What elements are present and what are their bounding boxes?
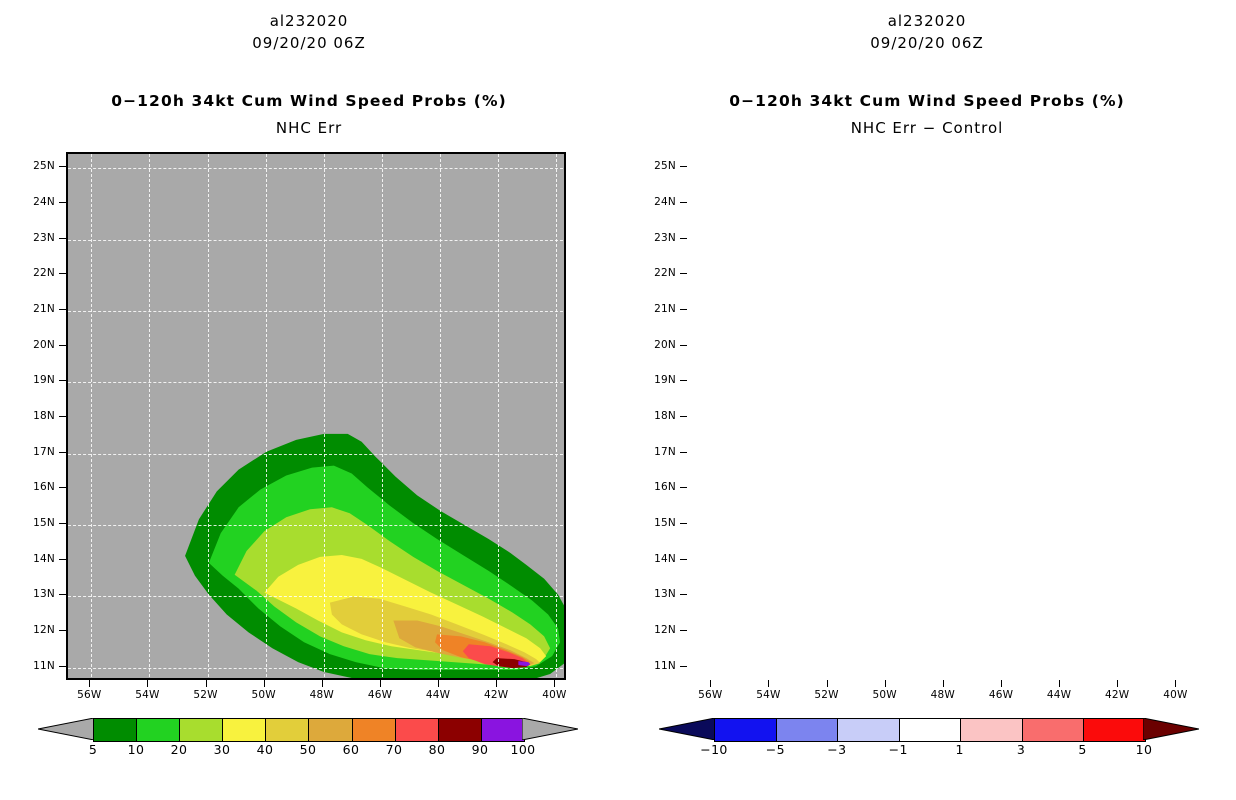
y-axis-label: 11N: [21, 660, 55, 672]
y-axis-label: 23N: [642, 232, 676, 244]
y-axis-tick: [59, 523, 66, 524]
colorbar-left-high-cap: [522, 718, 578, 740]
y-axis-tick: [680, 380, 687, 381]
y-axis-label: 20N: [21, 339, 55, 351]
x-axis-tick: [710, 680, 711, 687]
colorbar-probability-swatch[interactable]: [223, 719, 266, 741]
x-axis-tick: [322, 680, 323, 687]
y-axis-label: 17N: [21, 446, 55, 458]
x-axis-tick: [768, 680, 769, 687]
y-axis-label: 16N: [642, 481, 676, 493]
y-axis-tick: [59, 630, 66, 631]
y-axis-label: 22N: [21, 267, 55, 279]
right-chart-title: 0−120h 34kt Cum Wind Speed Probs (%): [618, 92, 1236, 110]
colorbar-difference-swatch[interactable]: [715, 719, 777, 741]
colorbar-probability-tick-label: 80: [417, 742, 457, 757]
x-axis-tick: [1117, 680, 1118, 687]
gridline-vertical: [91, 154, 92, 678]
y-axis-label: 19N: [21, 374, 55, 386]
colorbar-left-low-cap: [38, 718, 94, 740]
colorbar-difference-tick-label: 3: [1001, 742, 1041, 757]
gridline-vertical: [556, 154, 557, 678]
y-axis-label: 22N: [642, 267, 676, 279]
y-axis-label: 12N: [21, 624, 55, 636]
left-datetime: 09/20/20 06Z: [0, 34, 618, 52]
x-axis-label: 52W: [810, 689, 844, 701]
colorbar-probability-swatch[interactable]: [94, 719, 137, 741]
x-axis-label: 42W: [479, 689, 513, 701]
y-axis-tick: [680, 309, 687, 310]
y-axis-tick: [680, 416, 687, 417]
colorbar-difference-swatch[interactable]: [1084, 719, 1145, 741]
left-chart-title: 0−120h 34kt Cum Wind Speed Probs (%): [0, 92, 618, 110]
left-storm-id: al232020: [0, 12, 618, 30]
y-axis-label: 14N: [21, 553, 55, 565]
x-axis-tick: [147, 680, 148, 687]
colorbar-probability-swatch[interactable]: [309, 719, 352, 741]
y-axis-tick: [680, 202, 687, 203]
colorbar-difference-swatch[interactable]: [961, 719, 1023, 741]
colorbar-probability-swatch[interactable]: [482, 719, 524, 741]
colorbar-difference-swatch[interactable]: [1023, 719, 1085, 741]
y-axis-label: 21N: [642, 303, 676, 315]
gridline-horizontal: [68, 668, 564, 669]
x-axis-tick: [827, 680, 828, 687]
x-axis-tick: [1059, 680, 1060, 687]
y-axis-label: 20N: [642, 339, 676, 351]
colorbar-probability-tick-label: 10: [116, 742, 156, 757]
x-axis-tick: [496, 680, 497, 687]
y-axis-label: 23N: [21, 232, 55, 244]
colorbar-difference-tick-label: −3: [817, 742, 857, 757]
x-axis-tick: [206, 680, 207, 687]
colorbar-probability-tick-label: 90: [460, 742, 500, 757]
y-axis-label: 13N: [21, 588, 55, 600]
gridline-horizontal: [68, 525, 564, 526]
colorbar-left-tick-labels: 5102030405060708090100: [93, 742, 523, 762]
y-axis-label: 21N: [21, 303, 55, 315]
y-axis-tick: [59, 666, 66, 667]
gridline-horizontal: [68, 240, 564, 241]
x-axis-tick: [885, 680, 886, 687]
colorbar-difference-swatch[interactable]: [838, 719, 900, 741]
colorbar-probability-tick-label: 70: [374, 742, 414, 757]
y-axis-label: 13N: [642, 588, 676, 600]
colorbar-probability-tick-label: 40: [245, 742, 285, 757]
colorbar-probability-swatch[interactable]: [180, 719, 223, 741]
y-axis-label: 24N: [21, 196, 55, 208]
y-axis-tick: [59, 416, 66, 417]
y-axis-label: 14N: [642, 553, 676, 565]
gridline-horizontal: [68, 382, 564, 383]
y-axis-tick: [59, 559, 66, 560]
y-axis-tick: [680, 630, 687, 631]
colorbar-probability-swatch[interactable]: [396, 719, 439, 741]
right-storm-id: al232020: [618, 12, 1236, 30]
x-axis-label: 50W: [868, 689, 902, 701]
y-axis-tick: [680, 666, 687, 667]
y-axis-label: 18N: [21, 410, 55, 422]
gridline-horizontal: [68, 168, 564, 169]
y-axis-tick: [59, 166, 66, 167]
colorbar-probability-swatch[interactable]: [439, 719, 482, 741]
colorbar-difference-swatch[interactable]: [900, 719, 962, 741]
colorbar-right-tick-labels: −10−5−3−113510: [714, 742, 1144, 762]
y-axis-tick: [59, 452, 66, 453]
y-axis-label: 25N: [21, 160, 55, 172]
y-axis-label: 15N: [21, 517, 55, 529]
x-axis-label: 46W: [363, 689, 397, 701]
colorbar-right-segments: [714, 718, 1146, 742]
right-chart-subtitle: NHC Err − Control: [618, 119, 1236, 137]
colorbar-probability[interactable]: 5102030405060708090100: [38, 712, 578, 774]
y-axis-tick: [680, 559, 687, 560]
x-axis-label: 48W: [305, 689, 339, 701]
y-axis-tick: [680, 166, 687, 167]
colorbar-probability-tick-label: 30: [202, 742, 242, 757]
x-axis-label: 40W: [537, 689, 571, 701]
x-axis-label: 54W: [751, 689, 785, 701]
y-axis-tick: [59, 380, 66, 381]
y-axis-tick: [680, 273, 687, 274]
x-axis-tick: [943, 680, 944, 687]
y-axis-label: 17N: [642, 446, 676, 458]
y-axis-tick: [680, 594, 687, 595]
y-axis-label: 25N: [642, 160, 676, 172]
map-plot-area-left[interactable]: [66, 152, 566, 680]
gridline-horizontal: [68, 311, 564, 312]
x-axis-tick: [1175, 680, 1176, 687]
x-axis-label: 40W: [1158, 689, 1192, 701]
gridline-vertical: [266, 154, 267, 678]
y-axis-tick: [680, 523, 687, 524]
y-axis-tick: [680, 452, 687, 453]
y-axis-label: 11N: [642, 660, 676, 672]
colorbar-right-high-cap: [1143, 718, 1199, 740]
x-axis-tick: [1001, 680, 1002, 687]
x-axis-label: 56W: [693, 689, 727, 701]
x-axis-tick: [264, 680, 265, 687]
y-axis-tick: [59, 202, 66, 203]
gridline-vertical: [324, 154, 325, 678]
colorbar-difference-tick-label: 1: [940, 742, 980, 757]
y-axis-label: 15N: [642, 517, 676, 529]
colorbar-right-low-cap: [659, 718, 715, 740]
colorbar-probability-tick-label: 50: [288, 742, 328, 757]
gridline-horizontal: [68, 454, 564, 455]
y-axis-tick: [59, 345, 66, 346]
colorbar-probability-swatch[interactable]: [266, 719, 309, 741]
x-axis-label: 42W: [1100, 689, 1134, 701]
colorbar-difference-swatch[interactable]: [777, 719, 839, 741]
gridline-vertical: [498, 154, 499, 678]
y-axis-tick: [680, 345, 687, 346]
colorbar-difference-tick-label: 10: [1124, 742, 1164, 757]
left-chart-subtitle: NHC Err: [0, 119, 618, 137]
colorbar-difference-tick-label: −1: [878, 742, 918, 757]
colorbar-probability-tick-label: 20: [159, 742, 199, 757]
colorbar-difference-tick-label: −5: [755, 742, 795, 757]
y-axis-tick: [59, 238, 66, 239]
y-axis-label: 18N: [642, 410, 676, 422]
colorbar-left-segments: [93, 718, 525, 742]
colorbar-probability-tick-label: 100: [503, 742, 543, 757]
x-axis-tick: [380, 680, 381, 687]
x-axis-label: 54W: [130, 689, 164, 701]
colorbar-difference-tick-label: 5: [1063, 742, 1103, 757]
gridline-horizontal: [68, 596, 564, 597]
contour-field-nhc-err: [68, 154, 564, 678]
gridline-vertical: [149, 154, 150, 678]
x-axis-label: 50W: [247, 689, 281, 701]
colorbar-difference-tick-label: −10: [694, 742, 734, 757]
colorbar-probability-tick-label: 60: [331, 742, 371, 757]
x-axis-tick: [554, 680, 555, 687]
colorbar-difference[interactable]: −10−5−3−113510: [659, 712, 1199, 774]
y-axis-tick: [680, 487, 687, 488]
y-axis-tick: [59, 309, 66, 310]
y-axis-tick: [59, 273, 66, 274]
colorbar-probability-tick-label: 5: [73, 742, 113, 757]
x-axis-label: 44W: [1042, 689, 1076, 701]
y-axis-tick: [680, 238, 687, 239]
x-axis-label: 44W: [421, 689, 455, 701]
gridline-vertical: [208, 154, 209, 678]
colorbar-probability-swatch[interactable]: [137, 719, 180, 741]
x-axis-label: 56W: [72, 689, 106, 701]
x-axis-label: 46W: [984, 689, 1018, 701]
y-axis-tick: [59, 594, 66, 595]
x-axis-label: 48W: [926, 689, 960, 701]
y-axis-label: 24N: [642, 196, 676, 208]
gridline-vertical: [382, 154, 383, 678]
y-axis-tick: [59, 487, 66, 488]
y-axis-label: 19N: [642, 374, 676, 386]
gridline-vertical: [440, 154, 441, 678]
x-axis-tick: [89, 680, 90, 687]
y-axis-label: 16N: [21, 481, 55, 493]
colorbar-probability-swatch[interactable]: [353, 719, 396, 741]
x-axis-tick: [438, 680, 439, 687]
panel-nhc-err: al232020 09/20/20 06Z 0−120h 34kt Cum Wi…: [0, 0, 618, 800]
y-axis-label: 12N: [642, 624, 676, 636]
x-axis-label: 52W: [189, 689, 223, 701]
right-datetime: 09/20/20 06Z: [618, 34, 1236, 52]
